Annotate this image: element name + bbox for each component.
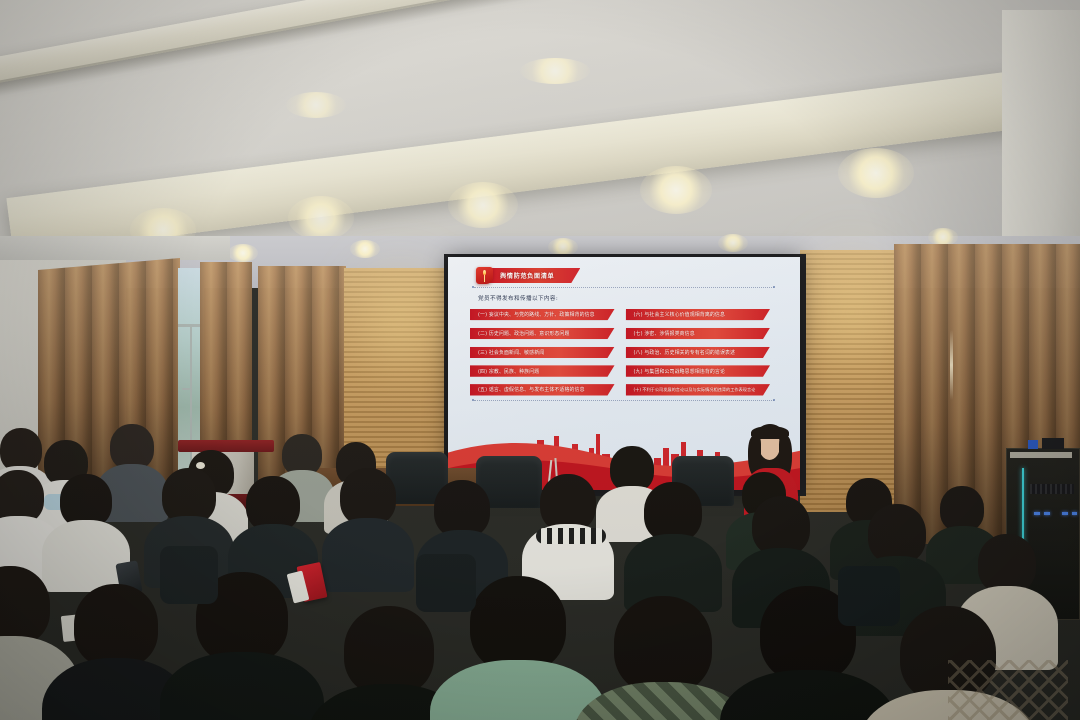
head (614, 596, 712, 694)
rack-device-dark (1042, 438, 1064, 449)
list-item: (二) 历史问题、政治问题、意识形态问题 (470, 328, 615, 339)
cove-light-4 (640, 166, 712, 214)
list-item: (一) 妄议中央、与党的路线、方针、政策相背的信息 (470, 309, 615, 320)
torso (322, 518, 414, 592)
wall-soffit-left (0, 236, 230, 260)
slide-subtitle: 党员不得发布和传播以下内容: (478, 294, 558, 302)
sweater-pattern (948, 660, 1068, 720)
rack-panel-vents (1030, 484, 1074, 494)
rack-led-1 (1034, 512, 1040, 515)
list-item-label: (十) 不利于公司发展的言论以及与实际情况相违背的工作表现言论 (634, 387, 756, 393)
cove-light-3 (448, 182, 518, 228)
ceiling (0, 0, 1080, 268)
hair-clip-icon (196, 462, 205, 469)
torso (430, 660, 606, 720)
head (74, 584, 158, 668)
list-item: (九) 与集团和公司战略思想相违背的言论 (626, 365, 771, 376)
list-item: (四) 宗教、民族、种族问题 (470, 365, 615, 376)
list-item-label: (四) 宗教、民族、种族问题 (478, 368, 539, 375)
head (752, 496, 810, 556)
wall-wash-light-left (352, 258, 448, 388)
divider-top (474, 287, 774, 289)
corner-dot-topleft (472, 286, 474, 288)
list-item-label: (六) 与社会主义核心价值观相背离的信息 (634, 311, 726, 318)
list-item: (十) 不利于公司发展的言论以及与实际情况相违背的工作表现言论 (626, 384, 771, 395)
torso (42, 520, 130, 592)
cove-light-6 (286, 92, 346, 118)
chair-back (160, 546, 218, 604)
recessed-spot-4 (718, 234, 748, 252)
chair-back (838, 566, 900, 626)
list-item-label: (七) 涉密、涉情报类商信息 (634, 330, 695, 337)
head (644, 482, 702, 542)
torso (720, 670, 896, 720)
list-item-label: (一) 妄议中央、与党的路线、方针、政策相背的信息 (478, 311, 595, 318)
list-item: (六) 与社会主义核心价值观相背离的信息 (626, 309, 771, 320)
head (344, 606, 434, 696)
slide-title-group: 舆情防范负面清单 (476, 267, 580, 284)
head (470, 576, 566, 672)
list-item: (五) 谣言、虚假信息、与发布主体不适格的信息 (470, 384, 615, 395)
corner-dot-bottomright (773, 399, 775, 401)
torch-icon (476, 267, 493, 284)
rack-led-2 (1044, 512, 1050, 515)
list-item-label: (三) 社会负面新闻、敏感新闻 (478, 349, 544, 356)
curtain-light-streak (950, 330, 953, 400)
window-handle-icon (182, 388, 190, 390)
list-item-label: (五) 谣言、虚假信息、与发布主体不适格的信息 (478, 386, 585, 393)
torso (160, 652, 324, 720)
cove-light-5 (838, 148, 914, 198)
list-item-label: (八) 与政治、历史相关的专有名词的错误表述 (634, 349, 736, 356)
recessed-spot-1 (228, 244, 258, 262)
slide-title-bar: 舆情防范负面清单 (488, 268, 580, 283)
rack-led-4 (1072, 512, 1077, 515)
head (868, 504, 926, 564)
collar-pattern (536, 528, 606, 544)
slide-title: 舆情防范负面清单 (500, 271, 554, 280)
cove-light-2 (288, 196, 354, 240)
list-item: (七) 涉密、涉情报类商信息 (626, 328, 771, 339)
list-item: (八) 与政治、历史相关的专有名词的错误表述 (626, 347, 771, 358)
list-item: (三) 社会负面新闻、敏感新闻 (470, 347, 615, 358)
lectern-top (178, 440, 274, 452)
conference-room-photo: 舆情防范负面清单 党员不得发布和传播以下内容: (一) 妄议中央、与党的路线、方… (0, 0, 1080, 720)
corner-dot-bottomleft (472, 399, 474, 401)
head (978, 534, 1036, 594)
slide-left-column: (一) 妄议中央、与党的路线、方针、政策相背的信息 (二) 历史问题、政治问题、… (470, 309, 615, 396)
ceiling-soffit-right (1002, 10, 1080, 260)
list-item-label: (九) 与集团和公司战略思想相违背的言论 (634, 368, 726, 375)
divider-bottom (474, 400, 774, 402)
wall-wash-light-right (806, 238, 898, 388)
recessed-spot-2 (350, 240, 380, 258)
rack-led-3 (1062, 512, 1068, 515)
slide-right-column: (六) 与社会主义核心价值观相背离的信息 (七) 涉密、涉情报类商信息 (八) … (626, 309, 771, 396)
rack-shelf (1010, 452, 1072, 458)
list-item-label: (二) 历史问题、政治问题、意识形态问题 (478, 330, 570, 337)
cove-light-7 (520, 58, 590, 84)
chair-back (416, 554, 476, 612)
slide-item-columns: (一) 妄议中央、与党的路线、方针、政策相背的信息 (二) 历史问题、政治问题、… (470, 309, 770, 396)
corner-dot-topright (773, 286, 775, 288)
rack-device-blue (1028, 440, 1038, 449)
